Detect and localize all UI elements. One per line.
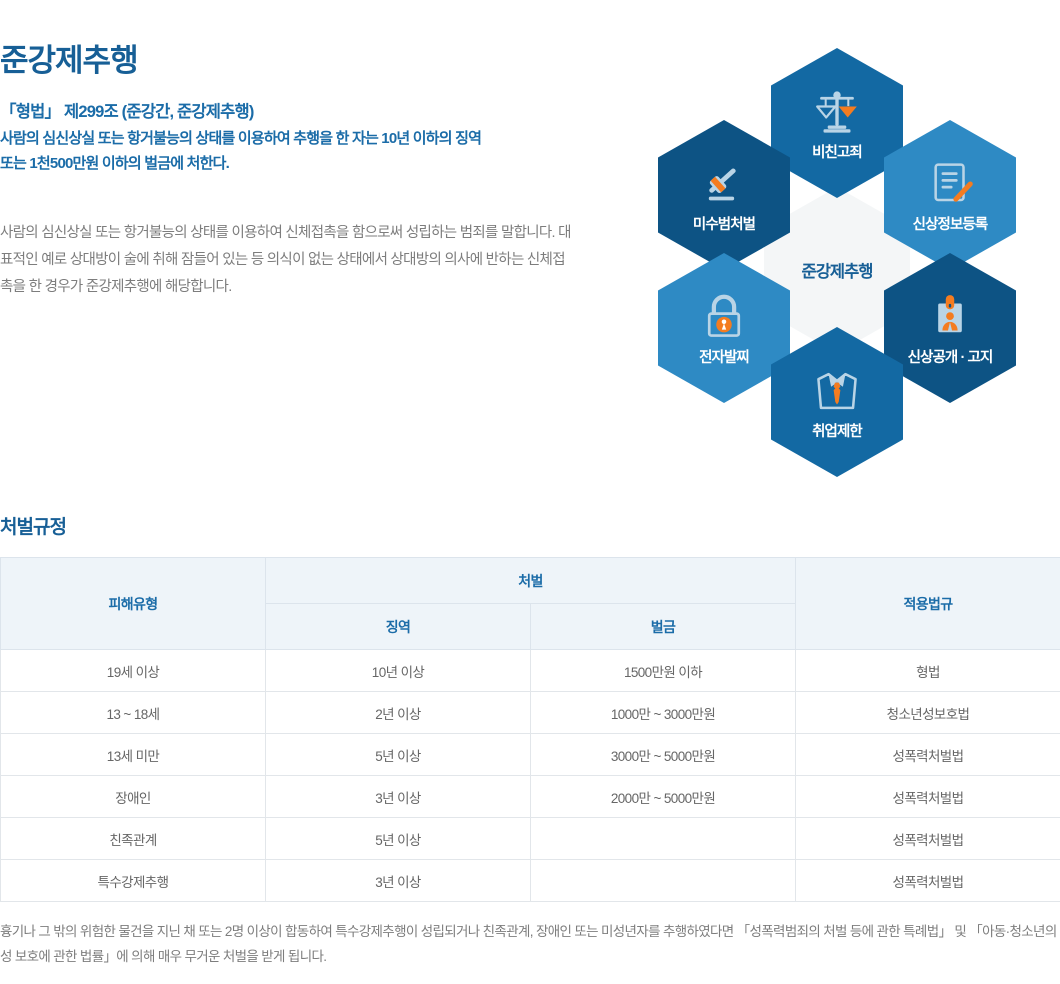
hex-node-label: 신상공개 · 고지 [908, 346, 993, 367]
table-row: 특수강제추행 3년 이상 성폭력처벌법 [1, 860, 1060, 902]
cell-victim-type: 장애인 [1, 776, 266, 818]
cell-applicable-law: 성폭력처벌법 [796, 860, 1060, 902]
id-badge-icon [923, 290, 977, 344]
hex-node-bottom[interactable]: 취업제한 [771, 327, 903, 477]
cell-applicable-law: 성폭력처벌법 [796, 776, 1060, 818]
document-pen-icon [923, 157, 977, 211]
consequences-hex-diagram: 준강제추행 비친고죄 [640, 30, 1040, 480]
footnote-text: 흉기나 그 밖의 위험한 물건을 지닌 채 또는 2명 이상이 합동하여 특수강… [0, 920, 1058, 970]
table-header-row-1: 피해유형 처벌 적용법규 [1, 558, 1060, 604]
table-row: 친족관계 5년 이상 성폭력처벌법 [1, 818, 1060, 860]
cell-victim-type: 특수강제추행 [1, 860, 266, 902]
header-applicable-law: 적용법규 [796, 558, 1060, 650]
cell-applicable-law: 청소년성보호법 [796, 692, 1060, 734]
cell-victim-type: 친족관계 [1, 818, 266, 860]
padlock-icon [697, 290, 751, 344]
law-text-line-2: 또는 1천500만원 이하의 벌금에 처한다. [0, 152, 580, 176]
law-text-line-1: 사람의 심신상실 또는 항거불능의 상태를 이용하여 추행을 한 자는 10년 … [0, 127, 580, 151]
cell-applicable-law: 성폭력처벌법 [796, 818, 1060, 860]
penalty-table-head: 피해유형 처벌 적용법규 징역 벌금 [1, 558, 1060, 650]
hex-node-label: 취업제한 [812, 420, 862, 441]
table-row: 장애인 3년 이상 2000만 ~ 5000만원 성폭력처벌법 [1, 776, 1060, 818]
cell-victim-type: 13 ~ 18세 [1, 692, 266, 734]
cell-fine: 1000만 ~ 3000만원 [531, 692, 796, 734]
cell-fine: 2000만 ~ 5000만원 [531, 776, 796, 818]
law-citation-block: 「형법」 제299조 (준강간, 준강제추행) 사람의 심신상실 또는 항거불능… [0, 100, 600, 176]
header-punishment: 처벌 [266, 558, 796, 604]
hex-node-top[interactable]: 비친고죄 [771, 48, 903, 198]
cell-fine: 3000만 ~ 5000만원 [531, 734, 796, 776]
hex-node-label: 신상정보등록 [913, 213, 988, 234]
penalty-table: 피해유형 처벌 적용법규 징역 벌금 19세 이상 10년 이상 1500만원 … [0, 557, 1060, 902]
intro-column: 준강제추행 「형법」 제299조 (준강간, 준강제추행) 사람의 심신상실 또… [0, 0, 600, 301]
description-paragraph: 사람의 심신상실 또는 항거불능의 상태를 이용하여 신체접촉을 함으로써 성립… [0, 220, 575, 300]
page-root: 준강제추행 「형법」 제299조 (준강간, 준강제추행) 사람의 심신상실 또… [0, 0, 1060, 984]
hex-node-label: 전자발찌 [699, 346, 749, 367]
shirt-tie-icon [810, 364, 864, 418]
header-fine: 벌금 [531, 604, 796, 650]
cell-victim-type: 13세 미만 [1, 734, 266, 776]
page-title: 준강제추행 [0, 44, 600, 78]
cell-imprisonment: 3년 이상 [266, 776, 531, 818]
cell-fine [531, 860, 796, 902]
law-heading: 「형법」 제299조 (준강간, 준강제추행) [0, 100, 600, 126]
table-row: 13세 미만 5년 이상 3000만 ~ 5000만원 성폭력처벌법 [1, 734, 1060, 776]
cell-imprisonment: 5년 이상 [266, 818, 531, 860]
cell-imprisonment: 5년 이상 [266, 734, 531, 776]
penalty-table-body: 19세 이상 10년 이상 1500만원 이하 형법 13 ~ 18세 2년 이… [1, 650, 1060, 902]
table-row: 13 ~ 18세 2년 이상 1000만 ~ 3000만원 청소년성보호법 [1, 692, 1060, 734]
cell-fine [531, 818, 796, 860]
hex-node-label: 비친고죄 [812, 141, 862, 162]
hex-node-label: 미수범처벌 [693, 213, 755, 234]
hex-center-label: 준강제추행 [802, 258, 873, 282]
cell-applicable-law: 성폭력처벌법 [796, 734, 1060, 776]
header-victim-type: 피해유형 [1, 558, 266, 650]
table-row: 19세 이상 10년 이상 1500만원 이하 형법 [1, 650, 1060, 692]
cell-imprisonment: 2년 이상 [266, 692, 531, 734]
cell-imprisonment: 10년 이상 [266, 650, 531, 692]
gavel-icon [697, 157, 751, 211]
cell-imprisonment: 3년 이상 [266, 860, 531, 902]
cell-fine: 1500만원 이하 [531, 650, 796, 692]
scales-icon [810, 85, 864, 139]
cell-applicable-law: 형법 [796, 650, 1060, 692]
penalty-section-heading: 처벌규정 [0, 512, 66, 539]
header-imprisonment: 징역 [266, 604, 531, 650]
cell-victim-type: 19세 이상 [1, 650, 266, 692]
